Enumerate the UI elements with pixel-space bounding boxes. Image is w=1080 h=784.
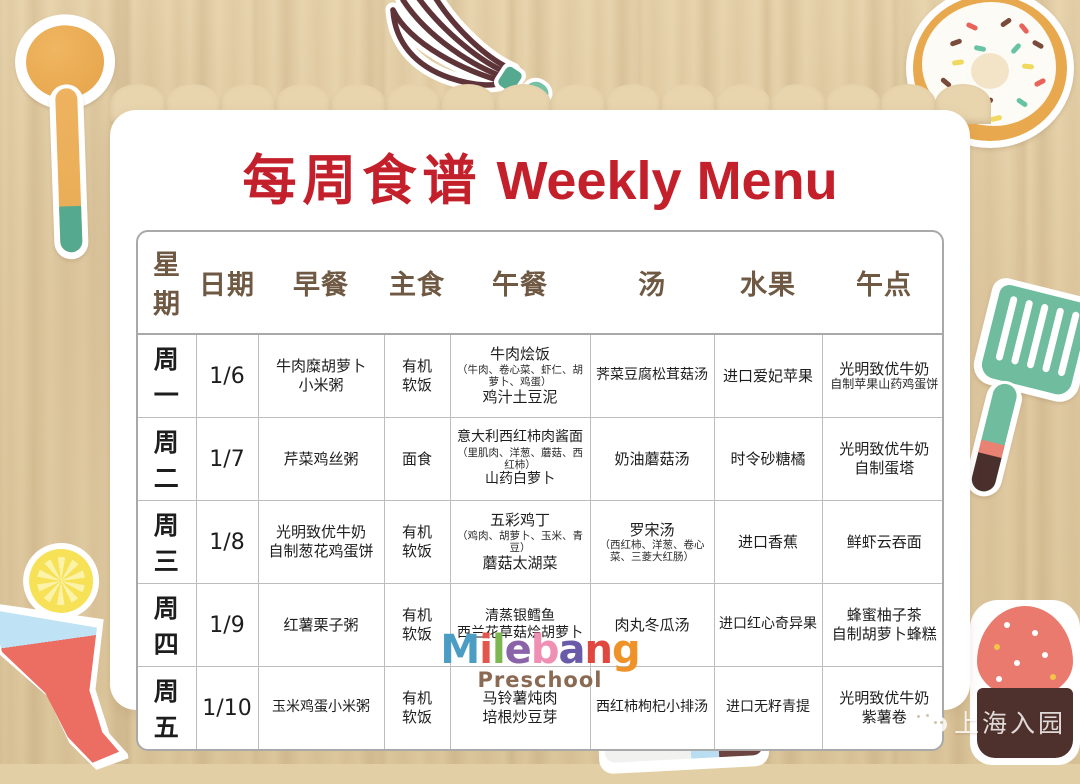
- cell-fruit: 进口爱妃苹果: [714, 334, 822, 418]
- cell-weekday: 周一: [138, 334, 196, 418]
- cell-date: 1/6: [196, 334, 258, 418]
- header-date: 日期: [196, 232, 258, 334]
- header-staple: 主食: [384, 232, 450, 334]
- table-row: 周一 1/6 牛肉糜胡萝卜 小米粥 有机 软饭 牛肉烩饭 （牛肉、卷心菜、虾仁、…: [138, 334, 944, 418]
- cell-snack: 光明致优牛奶 自制苹果山药鸡蛋饼: [822, 334, 944, 418]
- cell-fruit: 时令砂糖橘: [714, 418, 822, 501]
- cupcake-icon: [970, 600, 1080, 770]
- header-snack: 午点: [822, 232, 944, 334]
- logo-letter-i: i: [479, 630, 492, 670]
- cell-staple: 有机 软饭: [384, 501, 450, 584]
- table-row: 周二 1/7 芹菜鸡丝粥 面食 意大利西红柿肉酱面 （里肌肉、洋葱、蘑菇、西红柿…: [138, 418, 944, 501]
- title-english: Weekly Menu: [496, 151, 837, 211]
- header-soup: 汤: [590, 232, 714, 334]
- cell-lunch: 意大利西红柿肉酱面 （里肌肉、洋葱、蘑菇、西红柿） 山药白萝卜: [450, 418, 590, 501]
- watermark-text: 上海入园: [954, 704, 1066, 740]
- header-lunch: 午餐: [450, 232, 590, 334]
- cell-breakfast: 芹菜鸡丝粥: [258, 418, 384, 501]
- cell-snack: 光明致优牛奶 自制蛋塔: [822, 418, 944, 501]
- logo-letter-g: g: [612, 630, 640, 670]
- cell-weekday: 周三: [138, 501, 196, 584]
- school-logo: Milebang Preschool: [110, 630, 970, 692]
- logo-letter-b: b: [531, 630, 559, 670]
- cell-soup: 荠菜豆腐松茸菇汤: [590, 334, 714, 418]
- logo-letter-l: l: [492, 630, 505, 670]
- page-title: 每周食谱Weekly Menu: [110, 136, 970, 215]
- cell-soup: 奶油蘑菇汤: [590, 418, 714, 501]
- cell-snack: 鲜虾云吞面: [822, 501, 944, 584]
- menu-card: 每周食谱Weekly Menu 星期 日期 早餐 主食 午餐 汤 水果 午点: [110, 110, 970, 710]
- cell-weekday: 周二: [138, 418, 196, 501]
- logo-letter-a: a: [558, 630, 584, 670]
- logo-letter-e: e: [505, 630, 531, 670]
- header-weekday: 星期: [138, 232, 196, 334]
- logo-subtitle: Preschool: [110, 668, 970, 692]
- table-header-row: 星期 日期 早餐 主食 午餐 汤 水果 午点: [138, 232, 944, 334]
- logo-letter-n: n: [584, 630, 611, 670]
- cell-date: 1/7: [196, 418, 258, 501]
- header-breakfast: 早餐: [258, 232, 384, 334]
- cell-fruit: 进口香蕉: [714, 501, 822, 584]
- cell-soup: 罗宋汤 （西红柿、洋葱、卷心菜、三菱大红肠）: [590, 501, 714, 584]
- table-row: 周三 1/8 光明致优牛奶 自制葱花鸡蛋饼 有机 软饭 五彩鸡丁 （鸡肉、胡萝卜…: [138, 501, 944, 584]
- cell-staple: 面食: [384, 418, 450, 501]
- cell-lunch: 牛肉烩饭 （牛肉、卷心菜、虾仁、胡萝卜、鸡蛋） 鸡汁土豆泥: [450, 334, 590, 418]
- watermark: 上海入园: [911, 704, 1066, 740]
- header-fruit: 水果: [714, 232, 822, 334]
- logo-wordmark: Milebang: [110, 630, 970, 670]
- cell-lunch: 五彩鸡丁 （鸡肉、胡萝卜、玉米、青豆） 蘑菇太湖菜: [450, 501, 590, 584]
- title-chinese: 每周食谱: [242, 149, 482, 212]
- cell-date: 1/8: [196, 501, 258, 584]
- cell-breakfast: 光明致优牛奶 自制葱花鸡蛋饼: [258, 501, 384, 584]
- cell-staple: 有机 软饭: [384, 334, 450, 418]
- wechat-icon: [911, 709, 947, 735]
- logo-letter-M: M: [440, 630, 479, 670]
- cell-breakfast: 牛肉糜胡萝卜 小米粥: [258, 334, 384, 418]
